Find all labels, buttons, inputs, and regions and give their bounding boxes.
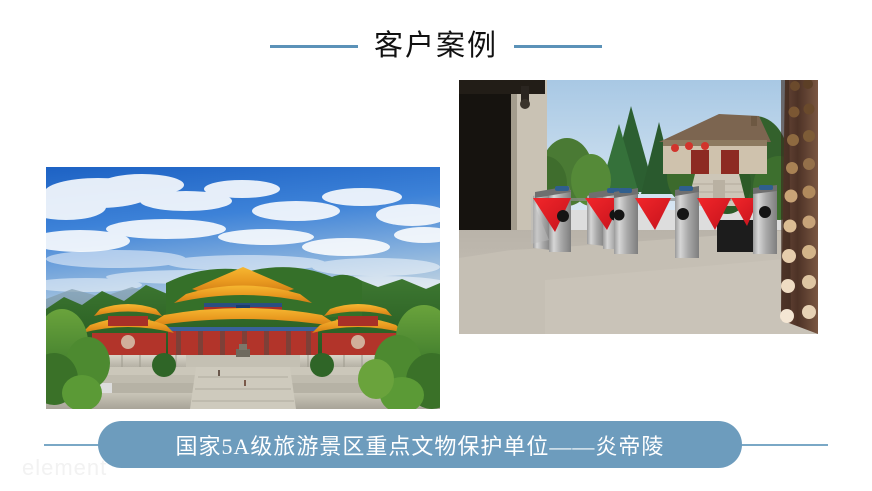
temple-complex-photo xyxy=(46,167,440,409)
decorative-rule-right-icon xyxy=(514,45,602,48)
turnstile-gates-illustration xyxy=(459,80,818,334)
decorative-rule-left-icon xyxy=(270,45,358,48)
slide-title-row: 客户案例 xyxy=(0,24,872,68)
page-title: 客户案例 xyxy=(374,29,498,63)
temple-complex-illustration xyxy=(46,167,440,409)
slide-canvas: 客户案例 xyxy=(0,0,872,491)
banner-caption: 国家5A级旅游景区重点文物保护单位——炎帝陵 xyxy=(176,429,665,461)
banner-pill: 国家5A级旅游景区重点文物保护单位——炎帝陵 xyxy=(98,421,742,468)
bottom-banner: 国家5A级旅游景区重点文物保护单位——炎帝陵 xyxy=(0,421,872,469)
watermark-text: element xyxy=(22,455,107,481)
turnstile-gates-photo xyxy=(459,80,818,334)
